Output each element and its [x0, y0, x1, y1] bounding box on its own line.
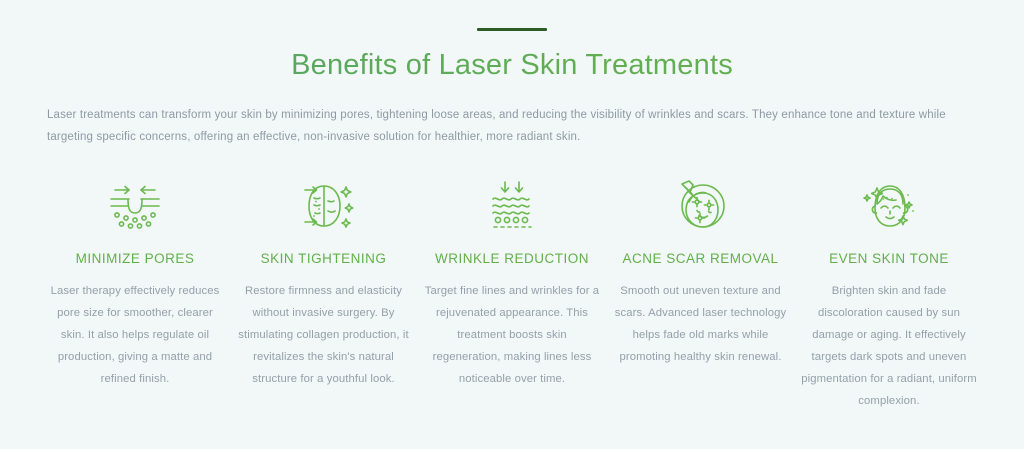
card-title: MINIMIZE PORES [47, 251, 223, 266]
benefit-card: EVEN SKIN TONE Brighten skin and fade di… [801, 175, 977, 412]
minimize-pores-icon [47, 175, 223, 237]
card-title: ACNE SCAR REMOVAL [613, 251, 789, 266]
section-header: Benefits of Laser Skin Treatments [0, 0, 1024, 82]
benefit-card: ACNE SCAR REMOVAL Smooth out uneven text… [613, 175, 789, 368]
benefit-card: WRINKLE REDUCTION Target fine lines and … [424, 175, 600, 390]
card-title: SKIN TIGHTENING [236, 251, 412, 266]
title-divider [477, 28, 547, 31]
card-title: EVEN SKIN TONE [801, 251, 977, 266]
acne-scar-removal-icon [613, 175, 789, 237]
wrinkle-reduction-icon [424, 175, 600, 237]
skin-tightening-icon [236, 175, 412, 237]
page-title: Benefits of Laser Skin Treatments [0, 49, 1024, 82]
benefits-section: Benefits of Laser Skin Treatments Laser … [0, 0, 1024, 449]
card-text: Laser therapy effectively reduces pore s… [47, 280, 223, 390]
card-title: WRINKLE REDUCTION [424, 251, 600, 266]
card-text: Restore firmness and elasticity without … [236, 280, 412, 390]
benefit-cards: MINIMIZE PORES Laser therapy effectively… [47, 175, 977, 412]
card-text: Target fine lines and wrinkles for a rej… [424, 280, 600, 390]
card-text: Brighten skin and fade discoloration cau… [801, 280, 977, 412]
benefit-card: SKIN TIGHTENING Restore firmness and ela… [236, 175, 412, 390]
intro-paragraph: Laser treatments can transform your skin… [47, 104, 977, 149]
card-text: Smooth out uneven texture and scars. Adv… [613, 280, 789, 368]
even-skin-tone-icon [801, 175, 977, 237]
benefit-card: MINIMIZE PORES Laser therapy effectively… [47, 175, 223, 390]
